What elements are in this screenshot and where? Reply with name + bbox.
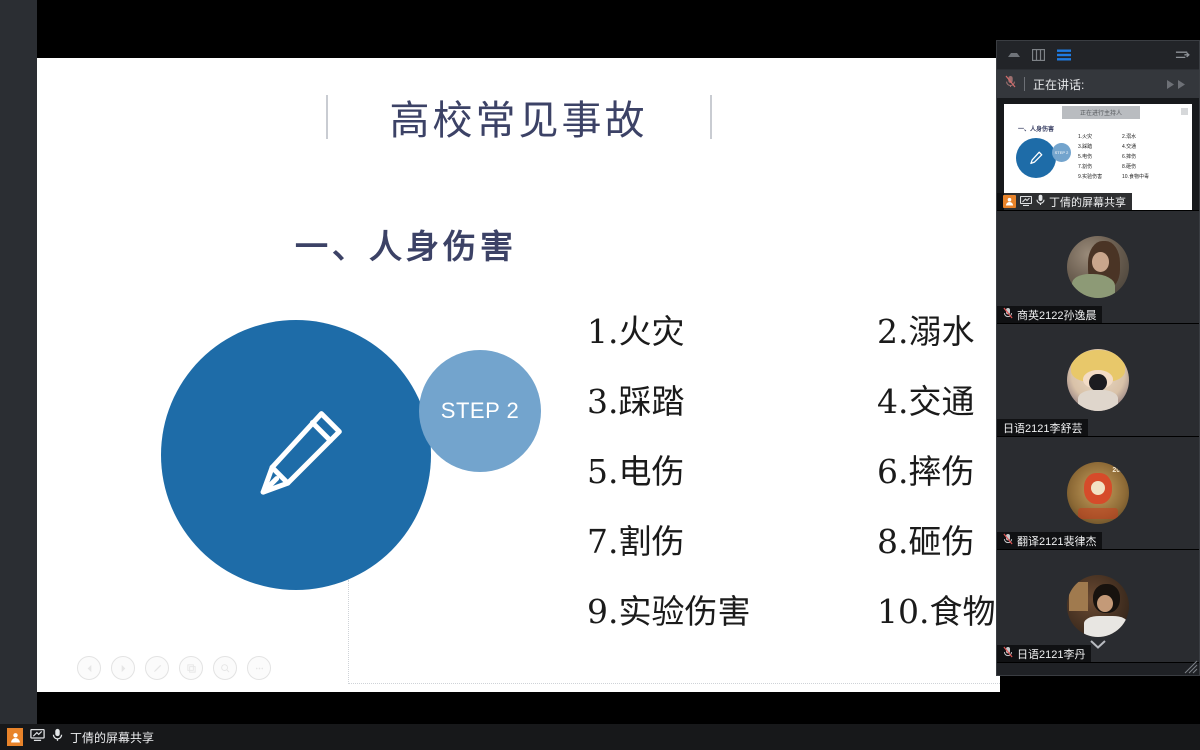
tile-name: 翻译2121裴律杰 (1017, 533, 1096, 549)
accident-list: 1.火灾 2.溺水 3.踩踏 4.交通 5.电伤 6.摔伤 7.割伤 8.砸伤 … (587, 310, 1000, 634)
tile-name: 日语2121李丹 (1017, 646, 1085, 662)
list-item: 10.食物中毒 (877, 590, 1000, 634)
screen-share-icon (1020, 193, 1032, 211)
more-options-button[interactable] (247, 656, 271, 680)
slide-guide-vertical (348, 580, 349, 684)
tile-label: 日语2121李丹 (997, 645, 1091, 662)
avatar (1067, 575, 1129, 637)
microphone-icon (1036, 193, 1045, 211)
pencil-icon (243, 398, 355, 510)
mini-pencil-icon (1028, 150, 1044, 166)
screen-share-icon[interactable] (30, 728, 45, 746)
video-tile[interactable]: 商英2122孙逸晨 (997, 211, 1199, 324)
active-speaker-row: 正在讲话: (997, 70, 1199, 98)
slide-title: 高校常见事故 (390, 88, 648, 146)
double-chevron-icon[interactable] (1165, 78, 1191, 91)
mini-list-item: 6.摔伤 (1122, 154, 1168, 161)
video-tile[interactable]: 202 翻译2121裴律杰 (997, 437, 1199, 550)
speaking-label: 正在讲话: (1033, 76, 1084, 93)
mini-list-item: 4.交通 (1122, 144, 1168, 151)
step-label: STEP 2 (441, 398, 519, 424)
mic-muted-icon (1003, 306, 1013, 324)
tile-label: 日语2121李舒芸 (997, 419, 1088, 436)
microphone-icon[interactable] (52, 728, 63, 747)
resize-grip[interactable] (1184, 660, 1198, 674)
previous-slide-button[interactable] (77, 656, 101, 680)
slide-subtitle: 一、人身伤害 (295, 220, 517, 268)
tile-label: 翻译2121裴律杰 (997, 532, 1102, 549)
title-decor-left (326, 95, 328, 139)
mini-list-item: 5.电伤 (1078, 154, 1122, 161)
mini-accident-list: 1.火灾 2.溺水 3.踩踏 4.交通 5.电伤 6.摔伤 7.割伤 8.砸伤 … (1078, 134, 1168, 181)
list-item: 2.溺水 (877, 310, 1000, 354)
mini-list-item: 3.踩踏 (1078, 144, 1122, 151)
video-tile[interactable]: 日语2121李舒芸 (997, 324, 1199, 437)
app-root: 高校常见事故 一、人身伤害 STEP 2 1.火灾 2.溺水 3.踩踏 4.交通… (0, 0, 1200, 750)
mini-list-item: 10.食物中毒 (1122, 174, 1168, 181)
minimize-icon[interactable] (1006, 48, 1021, 62)
mic-muted-icon (1003, 645, 1013, 663)
shared-slide[interactable]: 高校常见事故 一、人身伤害 STEP 2 1.火灾 2.溺水 3.踩踏 4.交通… (37, 58, 1000, 692)
chevron-down-icon[interactable] (1089, 637, 1107, 655)
collapse-panel-icon[interactable] (1175, 48, 1190, 62)
slide-guide-horizontal (348, 683, 1000, 684)
participant-icon[interactable] (7, 728, 23, 746)
step-circle-secondary: STEP 2 (419, 350, 541, 472)
list-item: 8.砸伤 (877, 520, 1000, 564)
status-bar-text: 丁倩的屏幕共享 (70, 729, 154, 746)
list-item: 4.交通 (877, 380, 1000, 424)
gallery-view-icon[interactable] (1056, 48, 1071, 62)
tile-name: 日语2121李舒芸 (1003, 420, 1082, 436)
list-item: 7.割伤 (587, 520, 877, 564)
play-button[interactable] (111, 656, 135, 680)
divider (1024, 77, 1025, 91)
panel-header (997, 41, 1199, 70)
mic-muted-icon (1005, 75, 1016, 93)
participants-video-panel[interactable]: 正在讲话: 正在进行主持人 一、人身伤害 STEP 2 1.火灾 (996, 40, 1200, 676)
title-decor-right (710, 95, 712, 139)
list-item: 1.火灾 (587, 310, 877, 354)
avatar (1067, 236, 1129, 298)
tile-label: 丁倩的屏幕共享 (997, 193, 1132, 210)
mini-window-title: 正在进行主持人 (1062, 106, 1140, 119)
list-item: 3.踩踏 (587, 380, 877, 424)
list-item: 6.摔伤 (877, 450, 1000, 494)
mini-circle-secondary: STEP 2 (1052, 143, 1071, 162)
avatar (1067, 349, 1129, 411)
tile-name: 丁倩的屏幕共享 (1049, 194, 1126, 210)
list-item: 5.电伤 (587, 450, 877, 494)
mini-list-item: 9.实验伤害 (1078, 174, 1122, 181)
screen-share-tile[interactable]: 正在进行主持人 一、人身伤害 STEP 2 1.火灾 2.溺水 3.踩踏 4.交… (997, 98, 1199, 211)
mini-list-item: 8.砸伤 (1122, 164, 1168, 171)
mini-close-icon (1181, 108, 1188, 115)
tile-label: 商英2122孙逸晨 (997, 306, 1102, 323)
mini-list-item: 2.溺水 (1122, 134, 1168, 141)
participant-icon (1003, 195, 1016, 208)
mini-list-item: 7.割伤 (1078, 164, 1122, 171)
mini-list-item: 1.火灾 (1078, 134, 1122, 141)
slide-panel-button[interactable] (179, 656, 203, 680)
avatar: 202 (1067, 462, 1129, 524)
slide-title-block: 高校常见事故 (37, 88, 1000, 146)
zoom-button[interactable] (213, 656, 237, 680)
slide-toolbar[interactable] (77, 656, 271, 680)
status-bar: 丁倩的屏幕共享 (0, 724, 1200, 750)
list-item: 9.实验伤害 (587, 590, 877, 634)
pen-annotate-button[interactable] (145, 656, 169, 680)
mic-muted-icon (1003, 532, 1013, 550)
window-view-icon[interactable] (1031, 48, 1046, 62)
tile-name: 商英2122孙逸晨 (1017, 307, 1096, 323)
mini-subtitle: 一、人身伤害 (1018, 124, 1054, 133)
